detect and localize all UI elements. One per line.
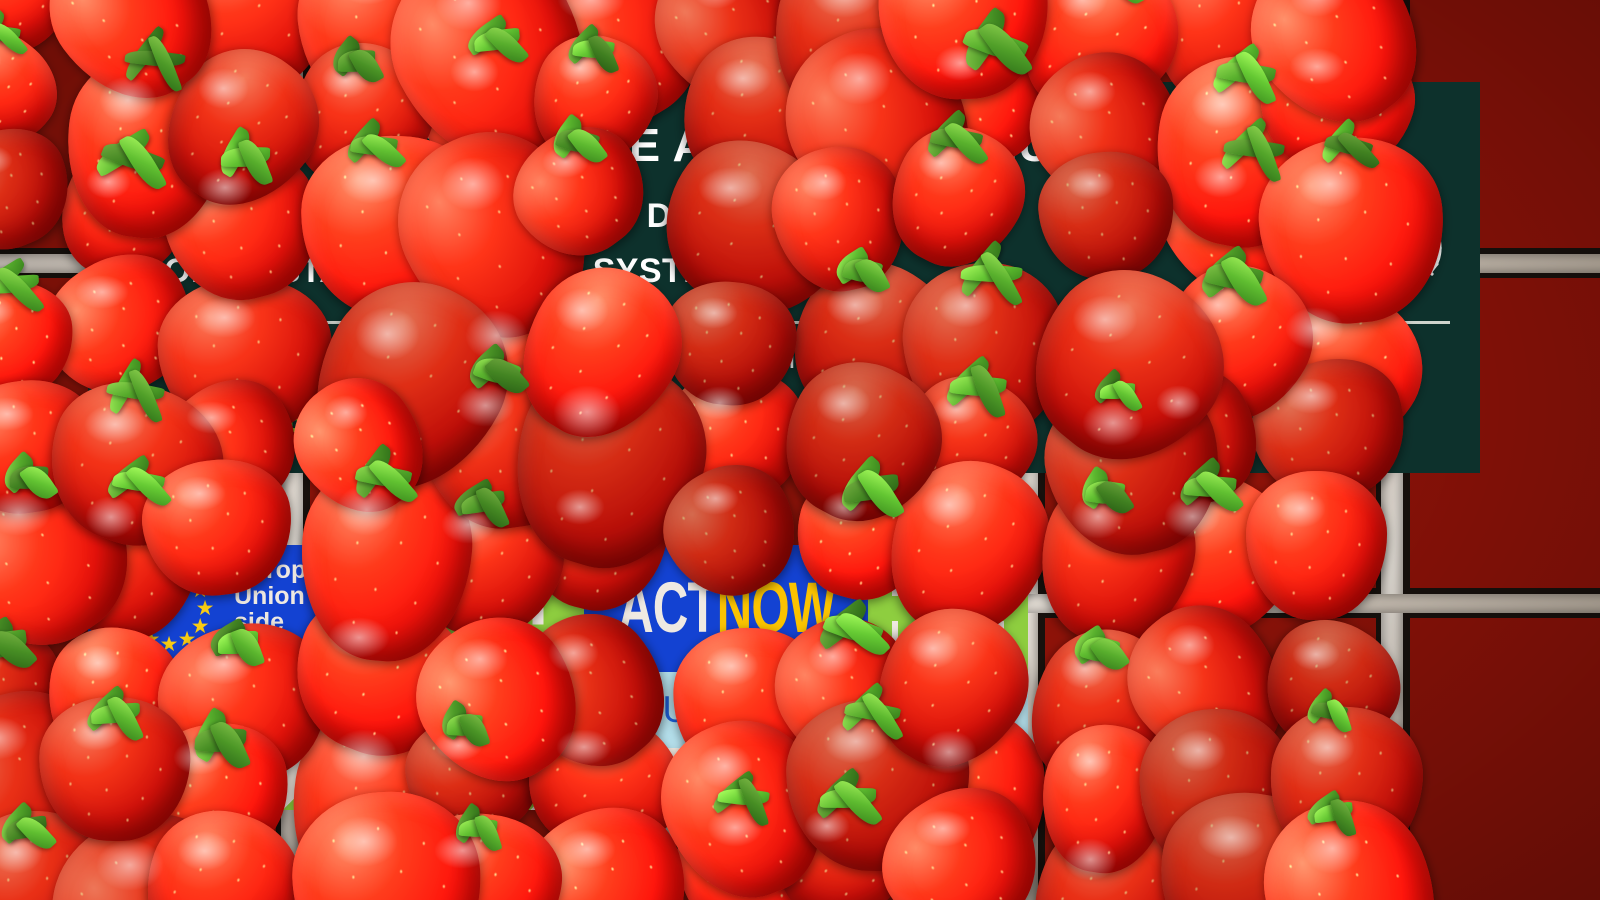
strawberry-field xyxy=(0,0,1600,900)
background-photo xyxy=(0,0,1600,900)
